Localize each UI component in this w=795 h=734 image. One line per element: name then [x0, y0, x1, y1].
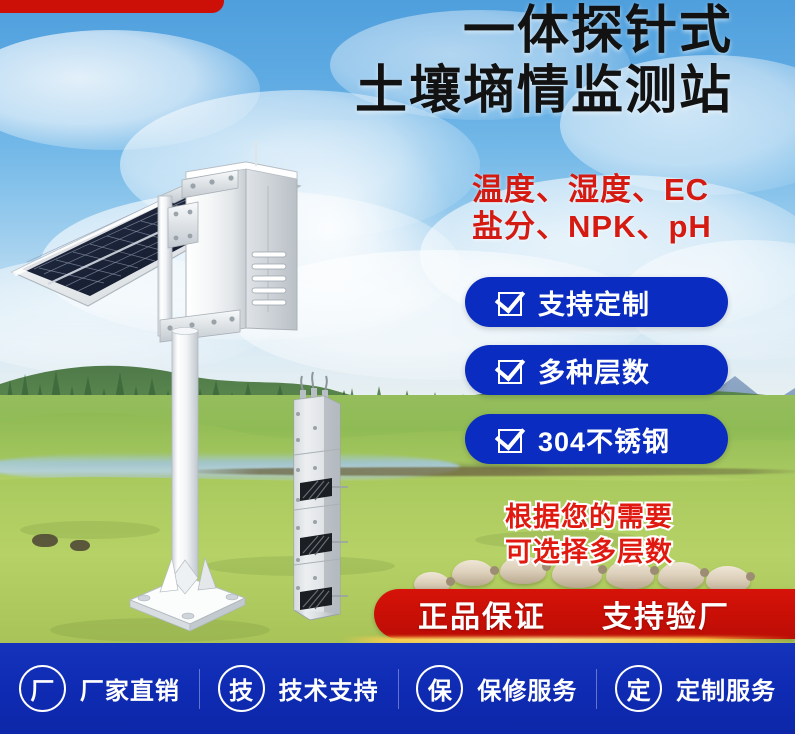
footer-item-label: 定制服务: [676, 671, 776, 706]
measurement-parameters: 温度、湿度、EC 盐分、NPK、pH: [472, 172, 712, 245]
product-poster: 一体探针式 土壤墒情监测站 温度、湿度、EC 盐分、NPK、pH 支持定制 多种…: [0, 0, 795, 734]
service-footer-bar: 厂 厂家直销 技 技术支持 保 保修服务 定 定制服务: [0, 643, 795, 734]
subtitle-line-2: 盐分、NPK、pH: [472, 209, 712, 246]
feature-pill-304-stainless-steel[interactable]: 304不锈钢: [465, 414, 728, 464]
customization-note: 根据您的需要 可选择多层数: [505, 500, 673, 570]
footer-item-label: 技术支持: [279, 671, 379, 706]
footer-item-technical-support[interactable]: 技 技术支持: [199, 643, 398, 734]
note-line-1: 根据您的需要: [505, 500, 673, 535]
subtitle-line-1: 温度、湿度、EC: [472, 172, 712, 209]
headline-line-2: 土壤墒情监测站: [355, 64, 733, 118]
footer-item-custom-service[interactable]: 定 定制服务: [596, 643, 795, 734]
headline-line-1: 一体探针式: [355, 4, 733, 58]
feature-pill-label: 304不锈钢: [538, 420, 670, 459]
feature-pill-multiple-layers[interactable]: 多种层数: [465, 345, 728, 395]
banner-text-factory-audit: 支持验厂: [602, 592, 730, 636]
footer-item-label: 厂家直销: [80, 671, 180, 706]
warranty-badge-icon: 保: [416, 665, 463, 712]
guarantee-banner: 正品保证 支持验厂: [374, 589, 795, 639]
checkbox-checked-icon: [498, 289, 524, 315]
checkbox-checked-icon: [498, 426, 524, 452]
page-title: 一体探针式 土壤墒情监测站: [355, 4, 733, 118]
banner-text-authentic: 正品保证: [418, 592, 546, 636]
checkbox-checked-icon: [498, 357, 524, 383]
feature-pill-label: 支持定制: [538, 283, 650, 322]
customization-badge-icon: 定: [615, 665, 662, 712]
technical-badge-icon: 技: [218, 665, 265, 712]
top-accent-strip: [0, 0, 224, 13]
note-line-2: 可选择多层数: [505, 535, 673, 570]
footer-item-warranty-service[interactable]: 保 保修服务: [398, 643, 597, 734]
factory-badge-icon: 厂: [19, 665, 66, 712]
feature-pill-support-customization[interactable]: 支持定制: [465, 277, 728, 327]
dirt-trail: [170, 467, 795, 476]
footer-item-direct-sales[interactable]: 厂 厂家直销: [0, 643, 199, 734]
feature-pill-label: 多种层数: [538, 351, 650, 390]
footer-item-label: 保修服务: [477, 671, 577, 706]
